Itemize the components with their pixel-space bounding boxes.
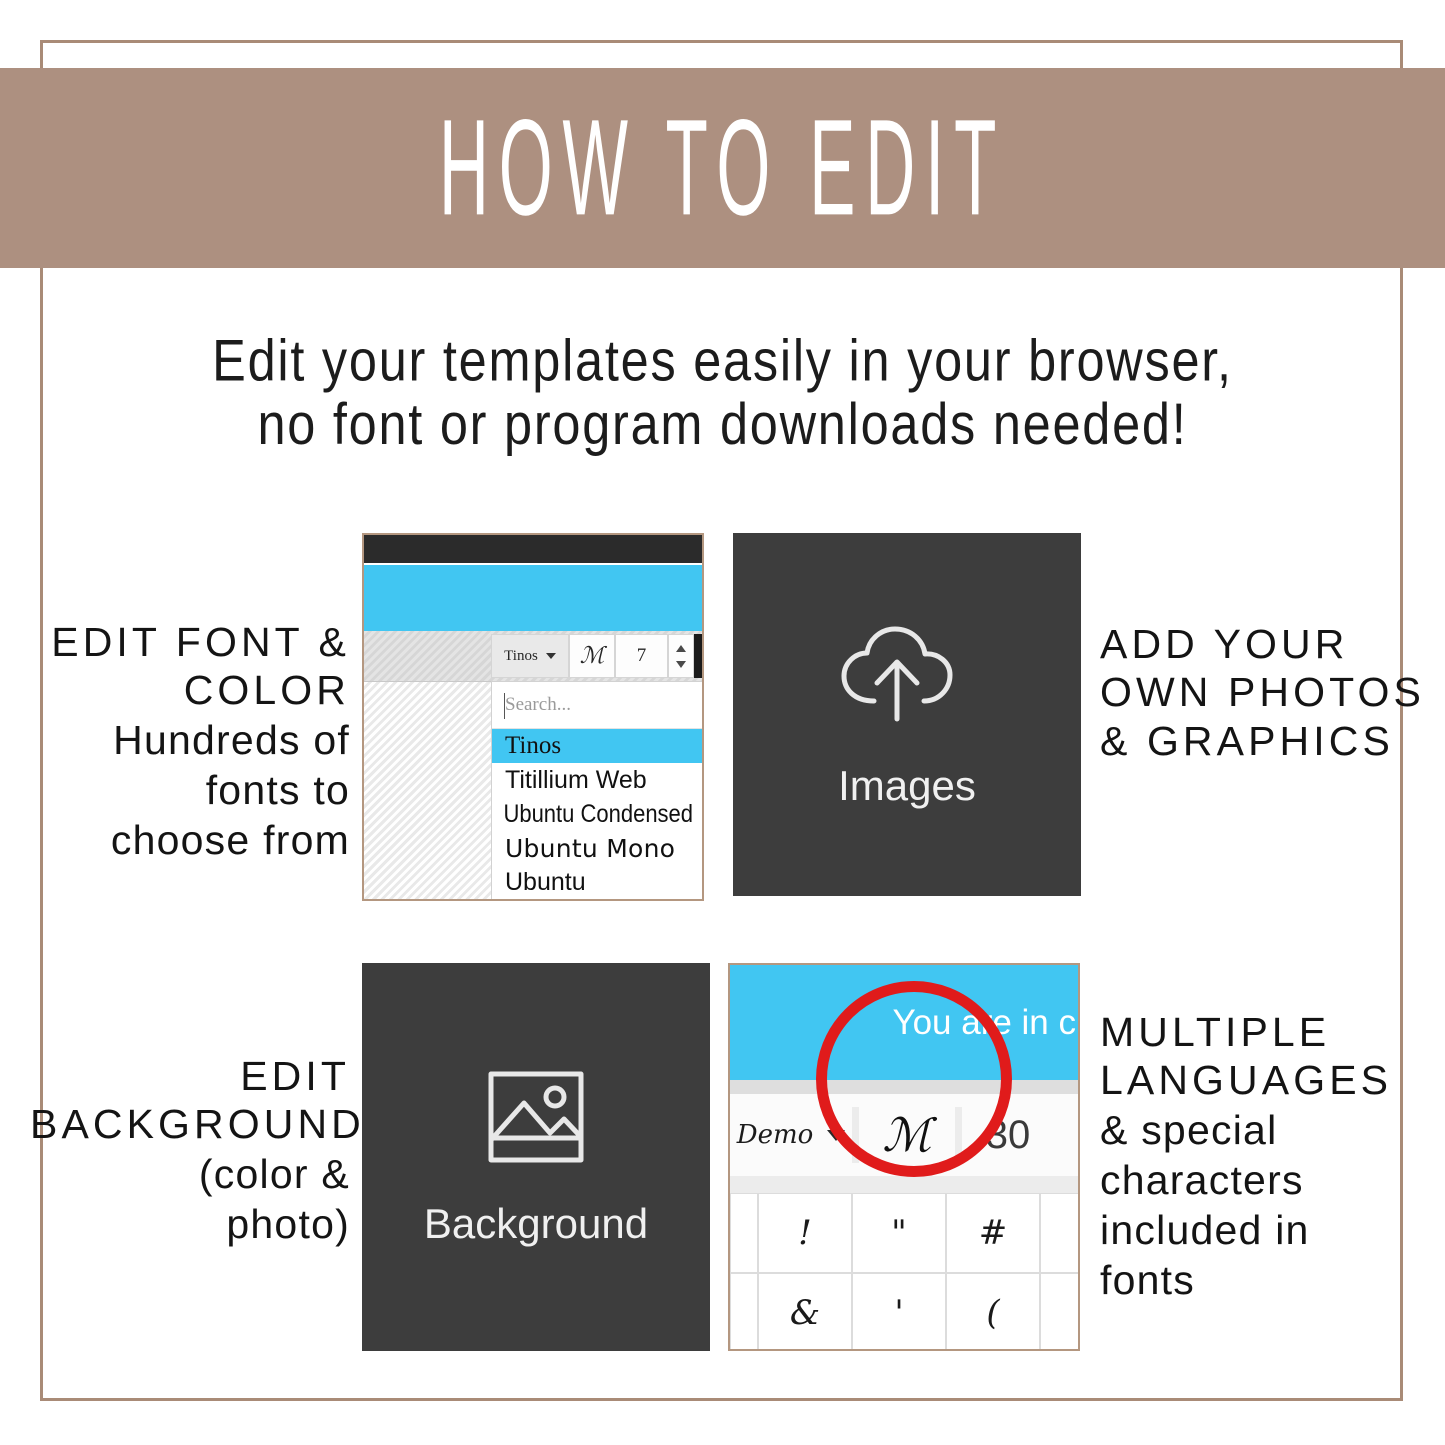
caption-line: BACKGROUND [30,1100,350,1148]
special-characters-screenshot: You are in c Demo ℳ 30 ! " # & ' ( [728,963,1080,1351]
cloud-upload-icon [832,619,982,734]
stepper-down-icon[interactable] [676,661,686,668]
font-editor-screenshot: Tinos ℳ 7 Search... Tinos Titillium Web … [362,533,704,901]
images-tile-label: Images [838,762,976,810]
text-cursor [504,693,505,719]
caption-line: & GRAPHICS [1100,717,1430,765]
font-search-input[interactable]: Search... [492,682,704,729]
toolbar-strip [730,1176,1078,1193]
font-search-placeholder: Search... [505,694,571,716]
caption-line: OWN PHOTOS [1100,668,1430,716]
caption-line: ADD YOUR [1100,620,1430,668]
toolbar-divider [955,1107,962,1163]
caption-line: photo) [30,1199,350,1249]
background-tile-label: Background [424,1200,648,1248]
font-family-select[interactable]: Tinos [491,634,569,678]
font-size-input[interactable]: 7 [615,634,668,678]
stepper-up-icon[interactable] [676,645,686,652]
caption-line: MULTIPLE [1100,1008,1430,1056]
images-tile[interactable]: Images [733,533,1081,896]
glyph-cell[interactable]: ! [758,1193,852,1273]
glyph-cell[interactable] [730,1273,758,1351]
font-list-item-ubuntu-mono[interactable]: Ubuntu Mono [492,831,704,865]
subtitle-line-1: Edit your templates easily in your brows… [22,330,1424,394]
glyph-cell[interactable]: ' [852,1273,946,1351]
background-tile[interactable]: Background [362,963,710,1351]
glyph-grid: ! " # & ' ( [730,1193,1078,1351]
caption-edit-background: EDIT BACKGROUND (color & photo) [30,1052,350,1249]
color-swatch-button[interactable] [694,634,704,678]
banner-divider [730,1080,1078,1094]
font-list-item-ubuntu[interactable]: Ubuntu [492,865,704,899]
app-title-bar [364,535,702,563]
caption-line: included in [1100,1205,1430,1255]
font-size-input[interactable]: 30 [962,1094,1054,1176]
script-font-button[interactable]: ℳ [859,1094,955,1176]
banner-text: You are in c [892,1003,1076,1043]
font-dropdown-panel: Search... Tinos Titillium Web Ubuntu Con… [491,681,704,901]
subtitle: Edit your templates easily in your brows… [22,330,1424,458]
glyph-cell[interactable]: " [852,1193,946,1273]
page-title: HOW TO EDIT [439,100,1006,237]
caption-line: fonts [1100,1255,1430,1305]
chevron-down-icon [546,653,556,659]
glyph-toolbar: Demo ℳ 30 [730,1094,1078,1176]
glyph-cell[interactable] [730,1193,758,1273]
app-banner: You are in c [730,965,1078,1080]
script-font-button[interactable]: ℳ [569,634,615,678]
subtitle-line-2: no font or program downloads needed! [22,394,1424,458]
caption-line: (color & [30,1149,350,1199]
glyph-cell[interactable] [1040,1273,1080,1351]
font-family-value: Demo [737,1120,814,1150]
font-list-item-ubuntu-condensed[interactable]: Ubuntu Condensed [492,797,679,831]
glyph-cell[interactable]: # [946,1193,1040,1273]
caption-line: choose from [30,815,350,865]
caption-line: Hundreds of [30,715,350,765]
caption-edit-font-color: EDIT FONT & COLOR Hundreds of fonts to c… [30,618,350,865]
glyph-cell[interactable]: & [758,1273,852,1351]
font-toolbar: Tinos ℳ 7 [491,634,704,678]
caption-multiple-languages: MULTIPLE LANGUAGES & special characters … [1100,1008,1430,1305]
toolbar-divider [852,1107,859,1163]
font-size-stepper[interactable] [668,634,694,678]
glyph-cell[interactable]: ( [946,1273,1040,1351]
app-banner [364,565,702,631]
caption-line: COLOR [30,666,350,714]
caption-line: EDIT FONT & [30,618,350,666]
font-family-value: Tinos [504,648,538,665]
caption-line: characters [1100,1155,1430,1205]
caption-add-photos: ADD YOUR OWN PHOTOS & GRAPHICS [1100,620,1430,765]
caption-line: fonts to [30,765,350,815]
font-list-item-tinos[interactable]: Tinos [492,729,704,763]
picture-icon [484,1067,588,1172]
font-family-select[interactable]: Demo [730,1094,852,1176]
chevron-down-icon [827,1130,845,1141]
glyph-cell[interactable] [1040,1193,1080,1273]
caption-line: LANGUAGES [1100,1056,1430,1104]
caption-line: EDIT [30,1052,350,1100]
font-list-item-titillium-web[interactable]: Titillium Web [492,763,704,797]
caption-line: & special [1100,1105,1430,1155]
header-band: HOW TO EDIT [0,68,1445,268]
